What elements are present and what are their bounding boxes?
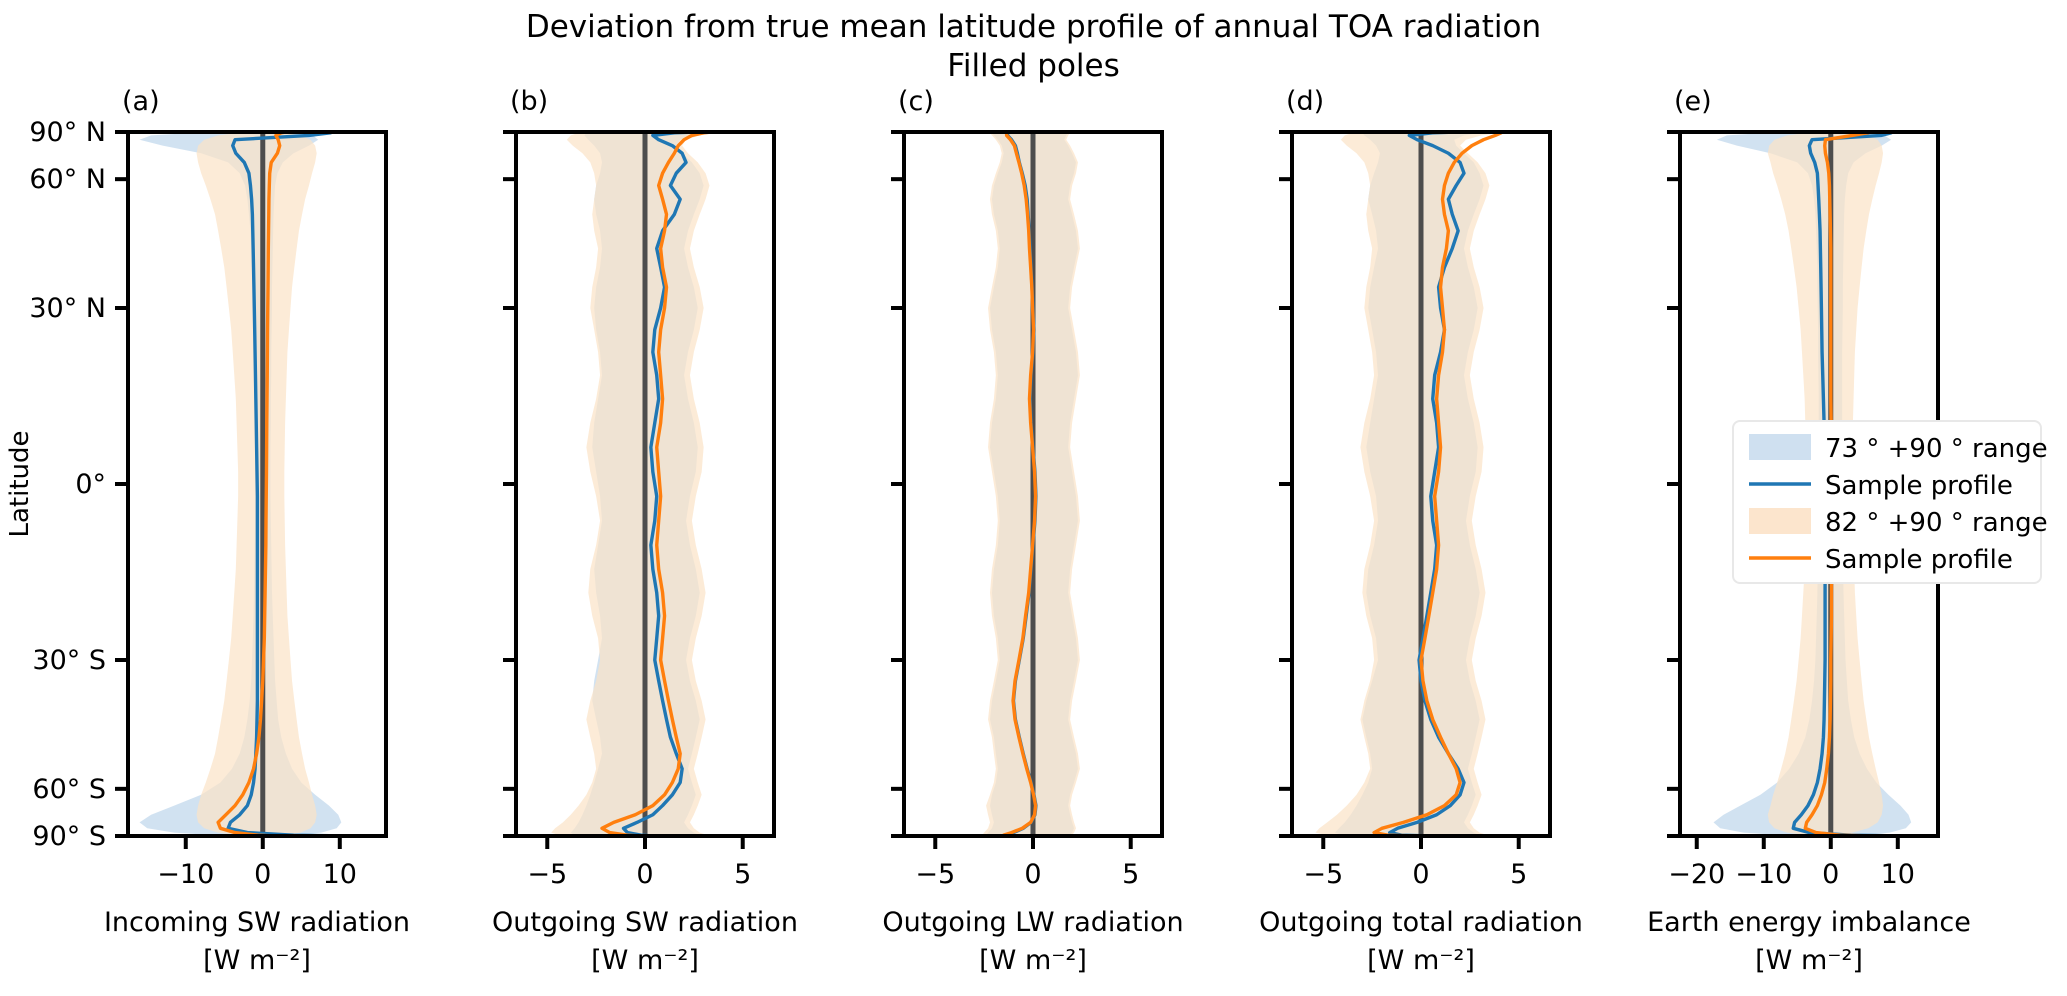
panel-tag: (d) xyxy=(1286,86,1324,117)
panel-tag: (b) xyxy=(510,86,548,117)
panel-tag: (c) xyxy=(898,86,934,117)
x-tick-label: 10 xyxy=(1881,859,1915,890)
x-tick-label: 0 xyxy=(1412,859,1429,890)
band-82-range xyxy=(1315,132,1503,836)
y-tick-label: 60° S xyxy=(32,774,106,805)
x-axis-units: [W m⁻²] xyxy=(591,945,699,976)
panel-c xyxy=(891,132,1162,849)
panel-b xyxy=(503,132,774,849)
x-axis-label: Outgoing total radiation xyxy=(1259,907,1583,938)
x-axis-label: Outgoing SW radiation xyxy=(492,907,798,938)
legend-label: Sample profile xyxy=(1825,545,2013,575)
x-tick-label: 5 xyxy=(1510,859,1527,890)
band-82-range xyxy=(551,132,719,836)
panel-tag: (a) xyxy=(122,86,160,117)
x-tick-label: −5 xyxy=(915,859,955,890)
figure-root: Deviation from true mean latitude profil… xyxy=(0,0,2067,996)
x-tick-label: 5 xyxy=(1122,859,1139,890)
x-tick-label: −10 xyxy=(1735,859,1792,890)
x-tick-label: −10 xyxy=(157,859,214,890)
x-tick-label: −5 xyxy=(527,859,567,890)
legend-label: Sample profile xyxy=(1825,471,2013,501)
x-axis-label: Outgoing LW radiation xyxy=(882,907,1183,938)
y-tick-label: 90° N xyxy=(29,117,106,148)
x-axis-label: Earth energy imbalance xyxy=(1647,907,1971,938)
y-tick-label: 60° N xyxy=(29,164,106,195)
legend: 73 ° +90 ° rangeSample profile82 ° +90 °… xyxy=(1733,421,2048,583)
x-tick-label: 0 xyxy=(636,859,653,890)
x-tick-label: −5 xyxy=(1303,859,1343,890)
x-axis-label: Incoming SW radiation xyxy=(104,907,410,938)
x-tick-label: −20 xyxy=(1668,859,1725,890)
legend-swatch-range xyxy=(1749,434,1811,460)
legend-label: 73 ° +90 ° range xyxy=(1825,434,2048,464)
x-axis-units: [W m⁻²] xyxy=(1755,945,1863,976)
x-tick-label: 5 xyxy=(734,859,751,890)
panel-tag: (e) xyxy=(1674,86,1712,117)
figure-canvas: Latitude90° N60° N30° N0°30° S60° S90° S… xyxy=(0,0,2067,996)
x-tick-label: 0 xyxy=(1024,859,1041,890)
x-axis-units: [W m⁻²] xyxy=(203,945,311,976)
y-tick-label: 0° xyxy=(75,469,106,500)
panel-d xyxy=(1279,132,1550,849)
panel-a xyxy=(115,132,386,849)
x-tick-label: 0 xyxy=(1822,859,1839,890)
y-tick-label: 30° S xyxy=(32,645,106,676)
legend-label: 82 ° +90 ° range xyxy=(1825,508,2048,538)
y-tick-label: 90° S xyxy=(32,821,106,852)
x-axis-units: [W m⁻²] xyxy=(1367,945,1475,976)
legend-swatch-range xyxy=(1749,508,1811,534)
x-axis-units: [W m⁻²] xyxy=(979,945,1087,976)
x-tick-label: 10 xyxy=(323,859,357,890)
y-tick-label: 30° N xyxy=(29,293,106,324)
x-tick-label: 0 xyxy=(254,859,271,890)
y-axis-label: Latitude xyxy=(5,430,35,537)
